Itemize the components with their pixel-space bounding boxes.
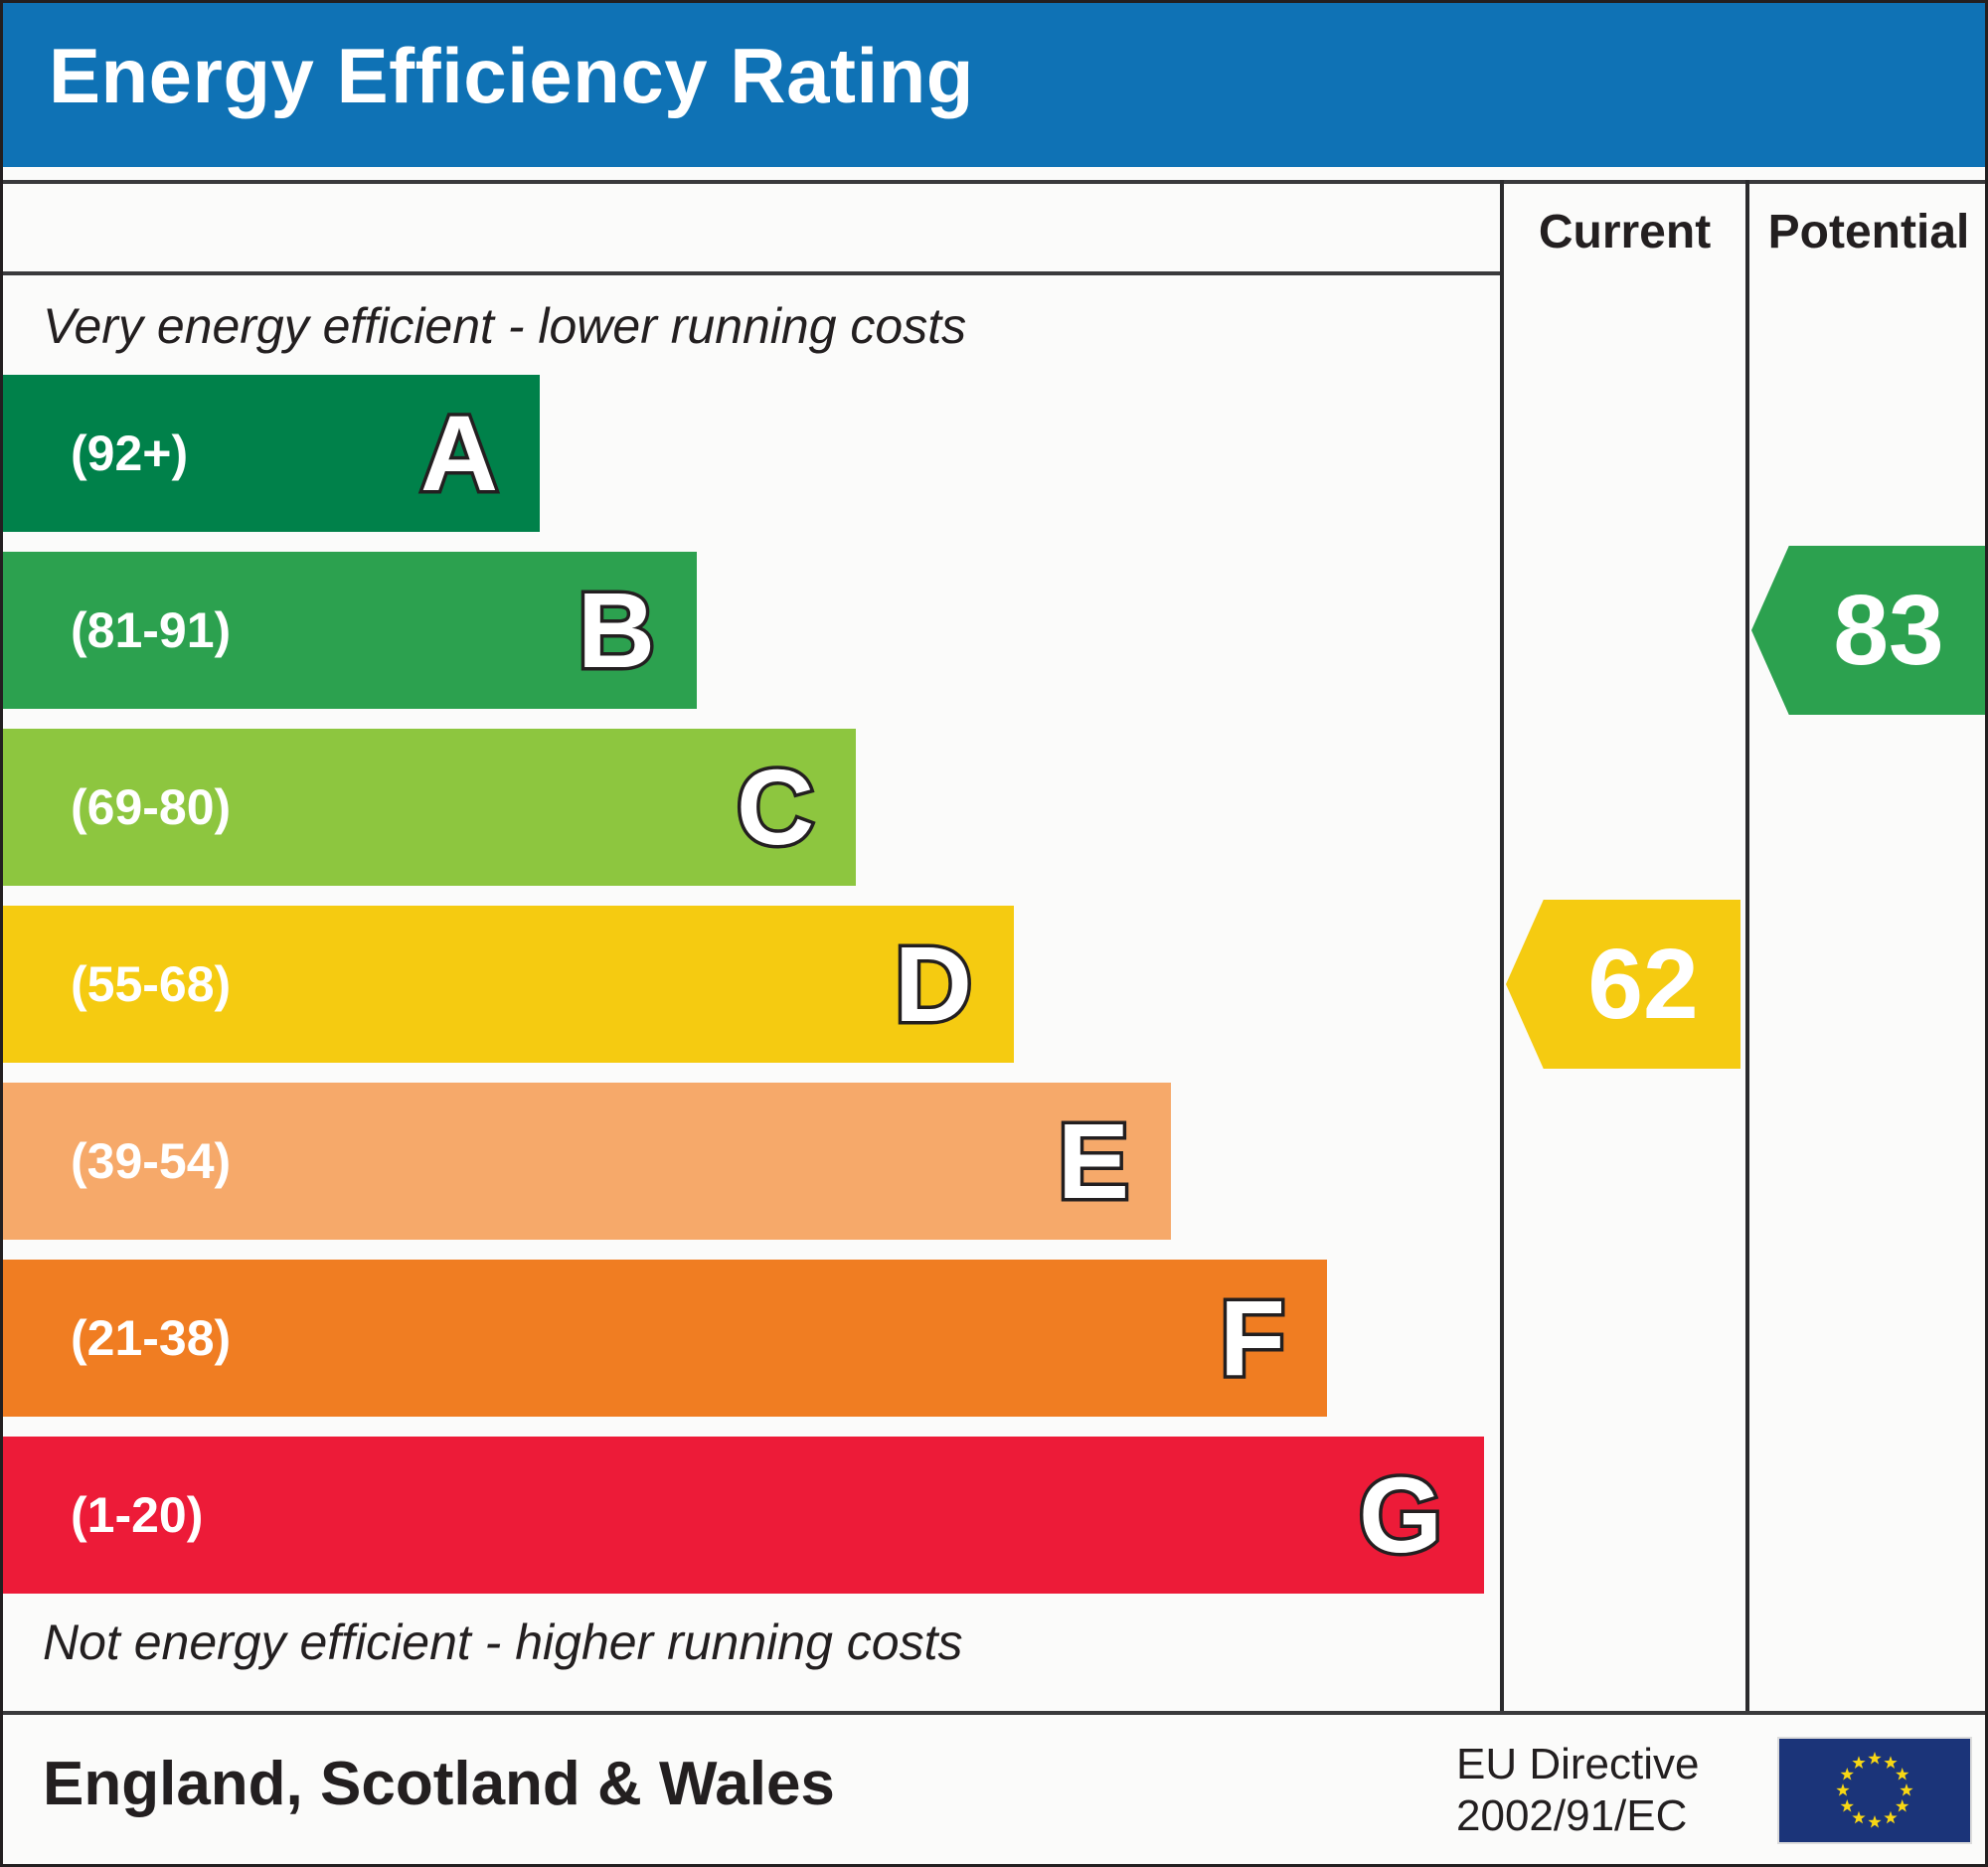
band-letter-c: C xyxy=(737,754,814,861)
eu-directive-line-2: 2002/91/EC xyxy=(1456,1790,1700,1842)
region-label: England, Scotland & Wales xyxy=(43,1749,835,1819)
rating-band-e: (39-54)E xyxy=(3,1083,1171,1240)
page-title: Energy Efficiency Rating xyxy=(49,31,974,121)
header-rule xyxy=(3,180,1988,184)
band-range-label: (39-54) xyxy=(71,1132,231,1190)
band-letter-e: E xyxy=(1058,1107,1129,1215)
potential-rating-value: 83 xyxy=(1833,574,1943,688)
band-range-label: (21-38) xyxy=(71,1309,231,1367)
band-letter-b: B xyxy=(578,577,655,684)
band-range-label: (81-91) xyxy=(71,601,231,659)
band-letter-d: D xyxy=(895,931,972,1038)
rating-band-d: (55-68)D xyxy=(3,906,1014,1063)
current-rating-value: 62 xyxy=(1587,928,1698,1042)
column-header-rule xyxy=(3,271,1500,275)
rating-band-a: (92+)A xyxy=(3,375,540,532)
column-header-current: Current xyxy=(1504,198,1745,267)
eu-flag-icon xyxy=(1777,1737,1972,1844)
eu-directive-label: EU Directive 2002/91/EC xyxy=(1456,1739,1700,1842)
column-divider-potential xyxy=(1745,180,1749,1711)
energy-efficiency-rating-chart: Energy Efficiency Rating Current Potenti… xyxy=(0,0,1988,1867)
band-range-label: (1-20) xyxy=(71,1486,203,1544)
caption-very-efficient: Very energy efficient - lower running co… xyxy=(43,297,966,355)
band-letter-f: F xyxy=(1220,1284,1285,1392)
current-rating-badge: 62 xyxy=(1506,900,1740,1069)
column-header-potential: Potential xyxy=(1749,198,1988,267)
band-range-label: (55-68) xyxy=(71,955,231,1013)
chart-footer: England, Scotland & Wales EU Directive 2… xyxy=(3,1715,1988,1864)
band-range-label: (92+) xyxy=(71,424,188,482)
chart-header: Energy Efficiency Rating xyxy=(3,3,1988,167)
band-letter-a: A xyxy=(420,400,498,507)
rating-band-f: (21-38)F xyxy=(3,1260,1327,1417)
band-letter-g: G xyxy=(1359,1461,1442,1569)
potential-rating-badge: 83 xyxy=(1751,546,1986,715)
rating-band-b: (81-91)B xyxy=(3,552,697,709)
caption-not-efficient: Not energy efficient - higher running co… xyxy=(43,1613,963,1671)
eu-directive-line-1: EU Directive xyxy=(1456,1739,1700,1790)
band-range-label: (69-80) xyxy=(71,778,231,836)
rating-band-c: (69-80)C xyxy=(3,729,856,886)
rating-band-g: (1-20)G xyxy=(3,1437,1484,1594)
column-divider-current xyxy=(1500,180,1504,1711)
